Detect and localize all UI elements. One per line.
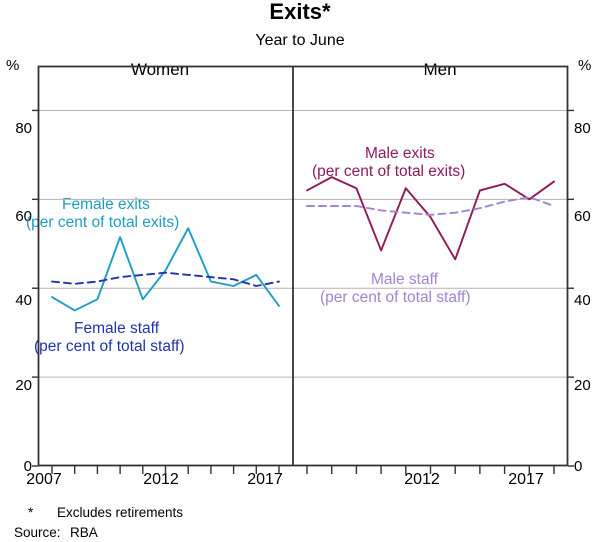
series-label-male-exits-line2: (per cent of total exits) xyxy=(312,163,465,181)
page-title: Exits* xyxy=(0,0,600,25)
series-label-female-staff: Female staff (per cent of total staff) xyxy=(74,320,184,356)
series-label-female-exits-line2: (per cent of total exits) xyxy=(26,214,179,232)
series-label-male-exits: Male exits (per cent of total exits) xyxy=(365,145,465,181)
x-tick-women-2007: 2007 xyxy=(14,471,74,489)
source-value: RBA xyxy=(70,525,98,540)
x-tick-women-2012: 2012 xyxy=(131,471,191,489)
series-label-male-staff: Male staff (per cent of total staff) xyxy=(371,271,470,307)
y-tick-right-60: 60 xyxy=(574,208,600,225)
y-tick-left-40: 40 xyxy=(2,292,32,309)
y-axis-unit-left: % xyxy=(6,57,19,74)
panel-heading-women: Women xyxy=(80,60,240,80)
y-tick-left-80: 80 xyxy=(2,120,32,137)
y-axis-unit-right: % xyxy=(578,57,591,74)
plot-frame xyxy=(39,67,568,466)
series-label-female-staff-line1: Female staff xyxy=(74,320,159,337)
series-label-male-staff-line2: (per cent of total staff) xyxy=(320,289,470,307)
y-tick-left-20: 20 xyxy=(2,377,32,394)
footnote-text: Excludes retirements xyxy=(57,505,183,520)
y-tick-right-40: 40 xyxy=(574,292,600,309)
series-label-female-staff-line2: (per cent of total staff) xyxy=(34,338,184,356)
source-label: Source: xyxy=(14,525,61,540)
series-line-male-staff xyxy=(307,197,554,215)
footnote-marker: * xyxy=(28,505,33,520)
y-tick-right-80: 80 xyxy=(574,120,600,137)
series-label-female-exits: Female exits (per cent of total exits) xyxy=(62,196,179,232)
series-label-male-exits-line1: Male exits xyxy=(365,145,435,162)
series-line-female-exits xyxy=(52,228,279,310)
series-line-male-exits xyxy=(307,177,554,259)
y-tick-right-0: 0 xyxy=(574,458,600,475)
x-tick-men-2012: 2012 xyxy=(392,471,452,489)
chart-subtitle: Year to June xyxy=(0,32,600,50)
plot-area xyxy=(0,0,600,542)
x-tick-men-2017: 2017 xyxy=(496,471,556,489)
y-tick-right-20: 20 xyxy=(574,377,600,394)
panel-heading-men: Men xyxy=(360,60,520,80)
x-tick-women-2017: 2017 xyxy=(235,471,295,489)
series-label-female-exits-line1: Female exits xyxy=(62,196,150,213)
chart-container: Exits* Year to June % % Women Men 80 60 … xyxy=(0,0,600,542)
series-line-female-staff xyxy=(52,273,279,286)
series-label-male-staff-line1: Male staff xyxy=(371,271,438,288)
